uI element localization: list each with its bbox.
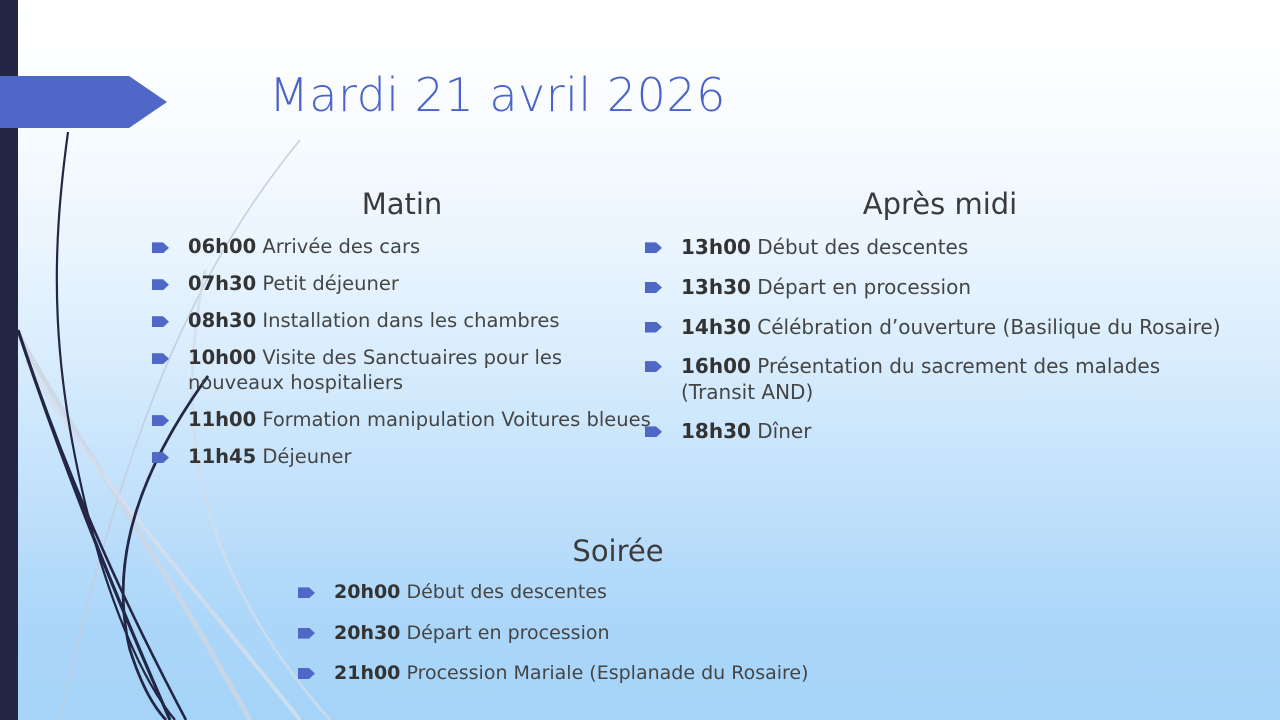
agenda-item-text: Début des descentes xyxy=(757,235,968,259)
agenda-item-time: 06h00 xyxy=(188,235,256,258)
agenda-item: 11h45 Déjeuner xyxy=(152,445,652,470)
arrow-bullet-icon xyxy=(152,353,169,364)
arrow-bullet-icon xyxy=(152,415,169,426)
agenda-item-text: Présentation du sacrement des malades (T… xyxy=(681,354,1160,404)
agenda-item-time: 11h00 xyxy=(188,408,256,431)
arrow-bullet-icon xyxy=(152,279,169,290)
agenda-item: 08h30 Installation dans les chambres xyxy=(152,309,652,334)
arrow-bullet-icon xyxy=(645,426,662,437)
agenda-item: 20h00 Début des descentes xyxy=(298,580,938,604)
arrow-bullet-icon xyxy=(645,322,662,333)
agenda-item-text: Arrivée des cars xyxy=(262,235,420,258)
agenda-item-time: 21h00 xyxy=(334,662,400,684)
agenda-item: 16h00 Présentation du sacrement des mala… xyxy=(645,354,1235,405)
section-heading-apres-midi: Après midi xyxy=(645,188,1235,221)
section-matin: Matin 06h00 Arrivée des cars 07h30 Petit… xyxy=(152,188,652,482)
section-apres-midi: Après midi 13h00 Début des descentes 13h… xyxy=(645,188,1235,459)
arrow-bullet-icon xyxy=(645,282,662,293)
agenda-item: 06h00 Arrivée des cars xyxy=(152,235,652,260)
agenda-item-text: Célébration d’ouverture (Basilique du Ro… xyxy=(757,315,1220,339)
curve-dark-2 xyxy=(18,330,170,720)
agenda-item-time: 07h30 xyxy=(188,272,256,295)
agenda-item-time: 11h45 xyxy=(188,445,256,468)
agenda-item-time: 13h30 xyxy=(681,275,751,299)
agenda-item: 14h30 Célébration d’ouverture (Basilique… xyxy=(645,315,1235,341)
agenda-item-time: 16h00 xyxy=(681,354,751,378)
agenda-item-text: Déjeuner xyxy=(262,445,351,468)
section-heading-soiree: Soirée xyxy=(298,535,938,568)
agenda-item-time: 20h30 xyxy=(334,622,400,644)
agenda-item: 07h30 Petit déjeuner xyxy=(152,272,652,297)
agenda-item-text: Installation dans les chambres xyxy=(262,309,559,332)
agenda-item: 11h00 Formation manipulation Voitures bl… xyxy=(152,408,652,433)
arrow-bullet-icon xyxy=(645,361,662,372)
arrow-bullet-icon xyxy=(152,242,169,253)
agenda-item: 13h30 Départ en procession xyxy=(645,275,1235,301)
agenda-item-time: 14h30 xyxy=(681,315,751,339)
agenda-item-time: 18h30 xyxy=(681,419,751,443)
agenda-item-text: Petit déjeuner xyxy=(262,272,399,295)
arrow-bullet-icon xyxy=(645,242,662,253)
agenda-item-time: 08h30 xyxy=(188,309,256,332)
agenda-item-text: Départ en procession xyxy=(406,622,609,644)
arrow-bullet-icon xyxy=(298,628,315,639)
agenda-item-time: 13h00 xyxy=(681,235,751,259)
agenda-item: 21h00 Procession Mariale (Esplanade du R… xyxy=(298,661,938,685)
arrow-bullet-icon xyxy=(298,587,315,598)
agenda-list-apres-midi: 13h00 Début des descentes 13h30 Départ e… xyxy=(645,235,1235,445)
page-title: Mardi 21 avril 2026 xyxy=(170,70,825,121)
agenda-item-text: Formation manipulation Voitures bleues xyxy=(262,408,650,431)
agenda-item-text: Début des descentes xyxy=(406,581,606,603)
arrow-bullet-icon xyxy=(152,316,169,327)
arrow-bullet-icon xyxy=(298,668,315,679)
agenda-item-text: Procession Mariale (Esplanade du Rosaire… xyxy=(406,662,808,684)
agenda-item: 20h30 Départ en procession xyxy=(298,621,938,645)
agenda-item-text: Dîner xyxy=(757,419,811,443)
section-soiree: Soirée 20h00 Début des descentes 20h30 D… xyxy=(298,535,938,701)
agenda-list-soiree: 20h00 Début des descentes 20h30 Départ e… xyxy=(298,580,938,685)
arrow-bullet-icon xyxy=(152,452,169,463)
slide-canvas: Mardi 21 avril 2026 Matin 06h00 Arrivée … xyxy=(0,0,1280,720)
agenda-item-time: 10h00 xyxy=(188,346,256,369)
agenda-item: 18h30 Dîner xyxy=(645,419,1235,445)
section-heading-matin: Matin xyxy=(152,188,652,221)
agenda-item: 10h00 Visite des Sanctuaires pour les no… xyxy=(152,346,652,396)
agenda-item-time: 20h00 xyxy=(334,581,400,603)
agenda-item: 13h00 Début des descentes xyxy=(645,235,1235,261)
agenda-item-text: Départ en procession xyxy=(757,275,971,299)
arrow-banner-icon xyxy=(0,76,167,128)
agenda-list-matin: 06h00 Arrivée des cars 07h30 Petit déjeu… xyxy=(152,235,652,470)
